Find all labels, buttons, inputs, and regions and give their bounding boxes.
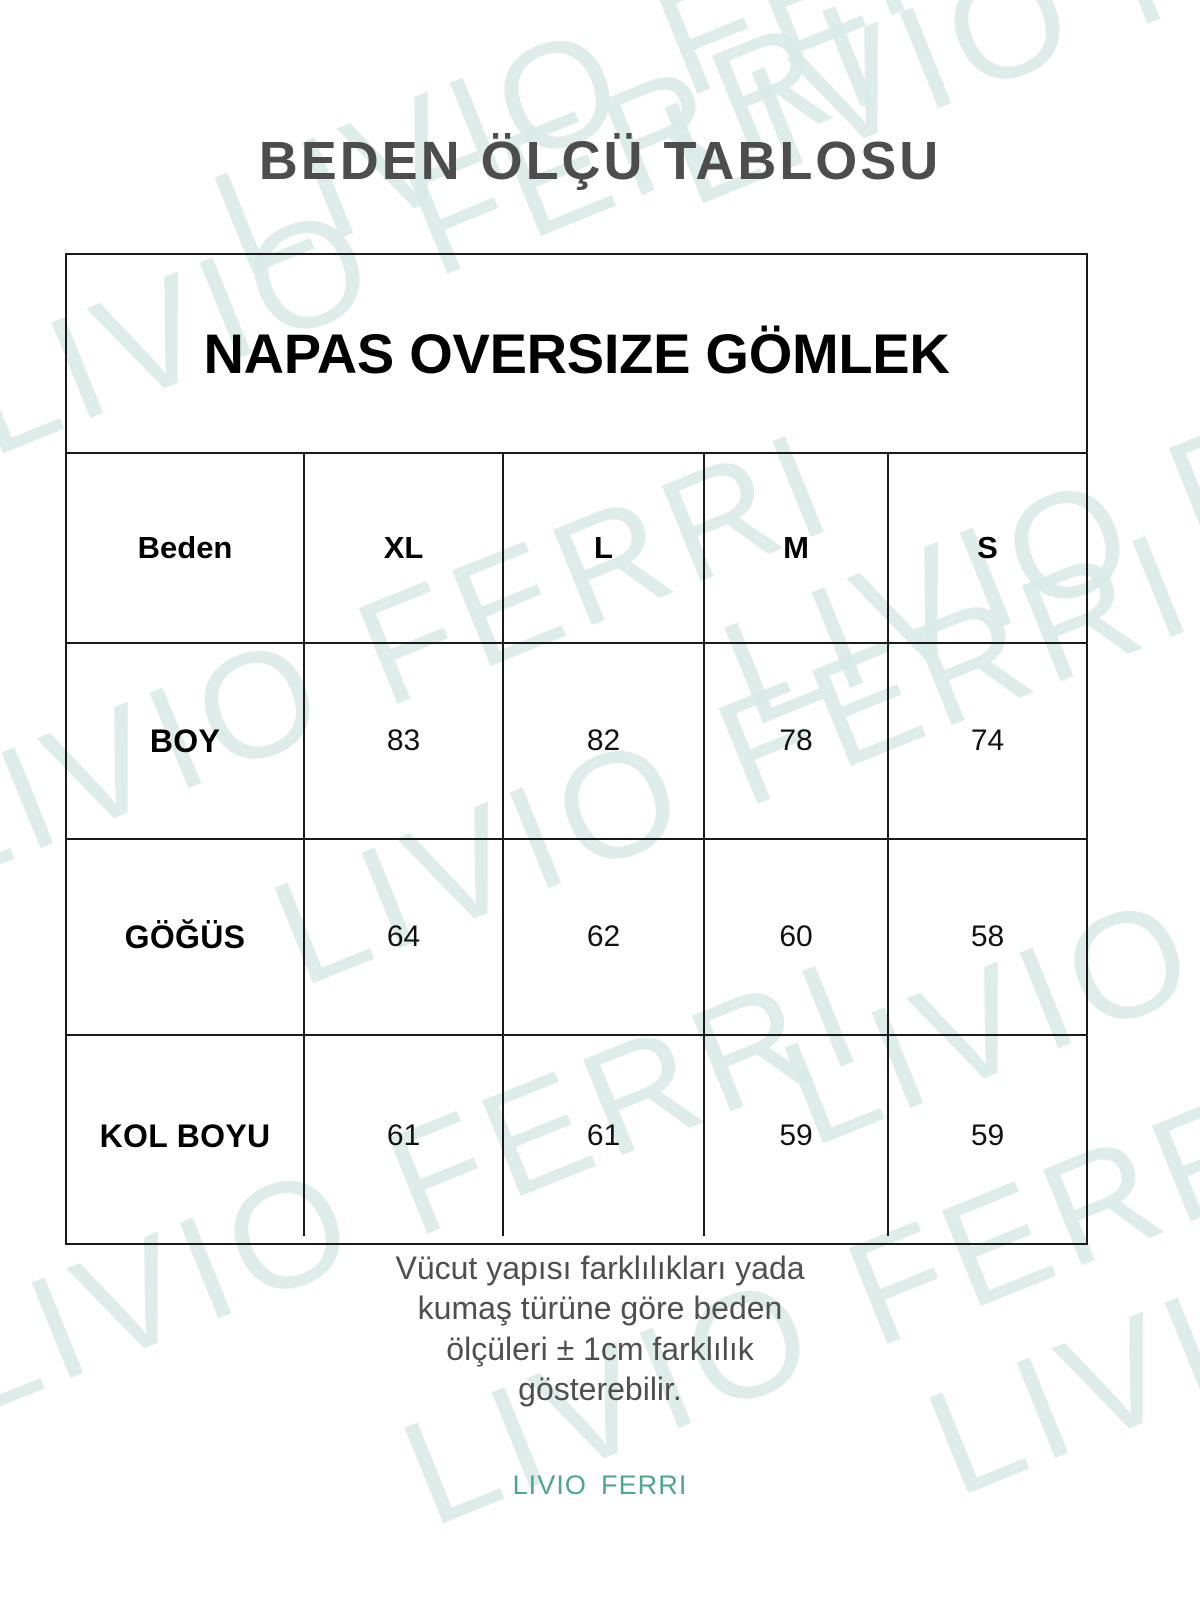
page-title: BEDEN ÖLÇÜ TABLOSU <box>0 130 1200 192</box>
row-value: 83 <box>387 724 420 758</box>
row-label: BOY <box>150 723 220 760</box>
row-value-cell-m: 59 <box>705 1036 889 1236</box>
row-label: GÖĞÜS <box>125 919 246 956</box>
table-row: KOL BOYU 61 61 59 59 <box>67 1036 1086 1236</box>
row-label-cell: GÖĞÜS <box>67 840 305 1034</box>
footer-note-line: ölçüleri ± 1cm farklılık <box>0 1329 1200 1369</box>
header-cell-l: L <box>504 454 705 642</box>
table-row: BOY 83 82 78 74 <box>67 644 1086 840</box>
row-value: 59 <box>779 1119 812 1153</box>
header-cell-xl: XL <box>305 454 504 642</box>
product-title-row: NAPAS OVERSIZE GÖMLEK <box>67 255 1086 454</box>
header-cell-beden: Beden <box>67 454 305 642</box>
row-label-cell: KOL BOYU <box>67 1036 305 1236</box>
row-value-cell-l: 62 <box>504 840 705 1034</box>
row-value: 58 <box>971 920 1004 954</box>
row-value-cell-m: 60 <box>705 840 889 1034</box>
row-label: KOL BOYU <box>100 1118 271 1155</box>
row-value-cell-s: 59 <box>889 1036 1086 1236</box>
brand-word-livio: LIVIO <box>513 1470 587 1500</box>
row-value: 82 <box>587 724 620 758</box>
row-value-cell-xl: 61 <box>305 1036 504 1236</box>
footer-note-line: gösterebilir. <box>0 1369 1200 1409</box>
brand-word-ferri: FERRI <box>601 1470 687 1500</box>
footer-note: Vücut yapısı farklılıkları yada kumaş tü… <box>0 1248 1200 1409</box>
header-cell-m: M <box>705 454 889 642</box>
row-value-cell-l: 61 <box>504 1036 705 1236</box>
row-value: 61 <box>587 1119 620 1153</box>
product-title: NAPAS OVERSIZE GÖMLEK <box>203 321 949 386</box>
row-value-cell-m: 78 <box>705 644 889 838</box>
row-value: 62 <box>587 920 620 954</box>
header-label-xl: XL <box>384 530 424 566</box>
brand-logo: LIVIOFERRI <box>0 1470 1200 1501</box>
row-value-cell-l: 82 <box>504 644 705 838</box>
header-label-l: L <box>594 530 613 566</box>
row-label-cell: BOY <box>67 644 305 838</box>
size-chart-table: NAPAS OVERSIZE GÖMLEK Beden XL L M S BOY… <box>65 253 1088 1245</box>
footer-note-line: Vücut yapısı farklılıkları yada <box>0 1248 1200 1288</box>
table-row: GÖĞÜS 64 62 60 58 <box>67 840 1086 1036</box>
row-value: 61 <box>387 1119 420 1153</box>
table-header-row: Beden XL L M S <box>67 454 1086 644</box>
header-label-m: M <box>783 530 809 566</box>
row-value-cell-s: 58 <box>889 840 1086 1034</box>
row-value: 78 <box>779 724 812 758</box>
header-cell-s: S <box>889 454 1086 642</box>
header-label-s: S <box>977 530 998 566</box>
row-value: 64 <box>387 920 420 954</box>
watermark-text: LIVIO FERRI <box>640 0 1200 240</box>
row-value-cell-xl: 64 <box>305 840 504 1034</box>
row-value: 60 <box>779 920 812 954</box>
header-label-beden: Beden <box>138 530 233 566</box>
row-value: 74 <box>971 724 1004 758</box>
row-value: 59 <box>971 1119 1004 1153</box>
row-value-cell-s: 74 <box>889 644 1086 838</box>
footer-note-line: kumaş türüne göre beden <box>0 1288 1200 1328</box>
row-value-cell-xl: 83 <box>305 644 504 838</box>
